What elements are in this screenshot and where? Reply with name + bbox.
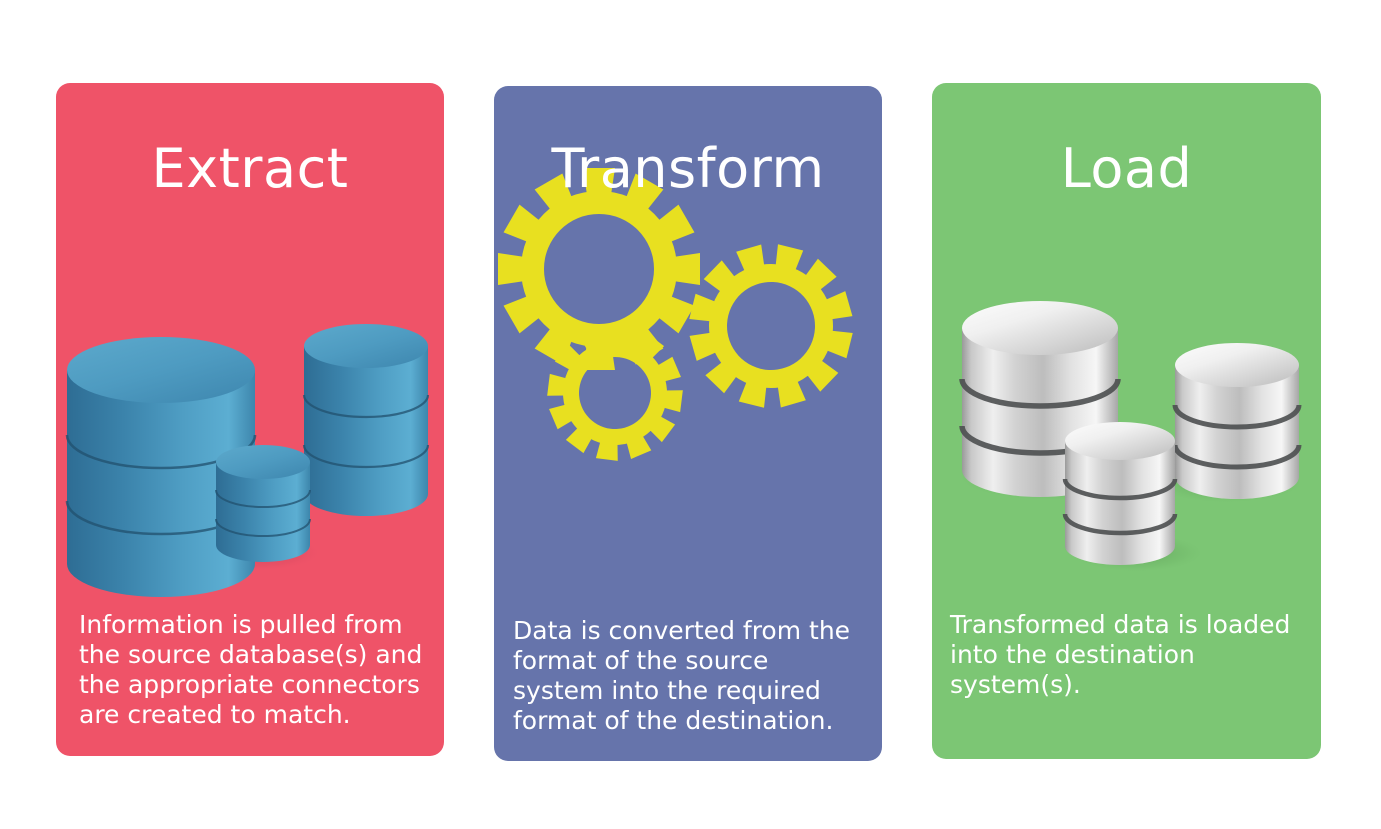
card-transform[interactable]: Transform Data is converted from the for… <box>494 86 882 761</box>
card-description-extract: Information is pulled from the source da… <box>79 610 427 730</box>
card-title-extract: Extract <box>56 142 444 196</box>
card-description-transform: Data is converted from the format of the… <box>513 616 865 736</box>
etl-diagram: Extract Information is pulled from the s… <box>0 0 1381 829</box>
card-extract[interactable]: Extract Information is pulled from the s… <box>56 83 444 756</box>
card-title-load: Load <box>932 142 1321 196</box>
card-title-transform: Transform <box>494 142 882 196</box>
card-load[interactable]: Load Transformed data is loaded into the… <box>932 83 1321 759</box>
card-description-load: Transformed data is loaded into the dest… <box>950 610 1308 700</box>
